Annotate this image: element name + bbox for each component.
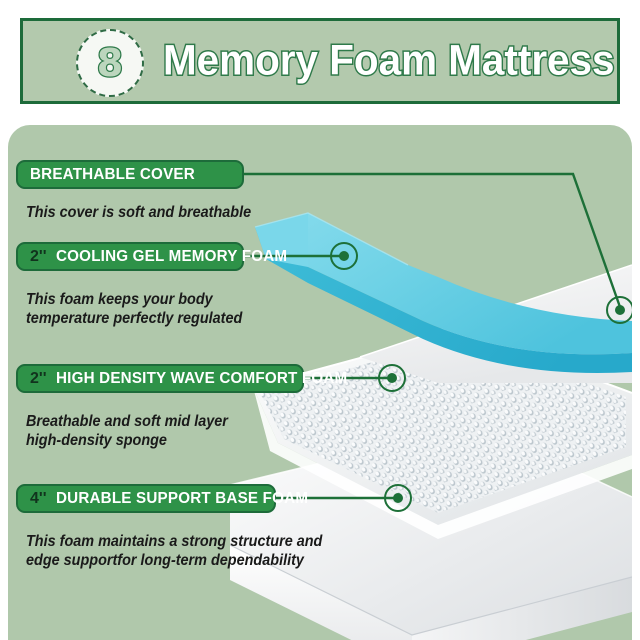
- step-number-badge: 8: [76, 29, 144, 97]
- callout-pill-breathable-cover[interactable]: BREATHABLE COVER: [16, 160, 244, 189]
- step-number-value: 8: [97, 44, 123, 82]
- callout-pill-label-breathable-cover: BREATHABLE COVER: [30, 166, 195, 184]
- callout-pill-measure-wave-comfort-foam: 2'': [30, 370, 47, 388]
- callout-pill-label-base-foam: DURABLE SUPPORT BASE FOAM: [56, 490, 308, 508]
- callout-description-base-foam: This foam maintains a strong structure a…: [26, 532, 322, 570]
- callout-description-cooling-gel: This foam keeps your body temperature pe…: [26, 290, 242, 328]
- content-panel: BREATHABLE COVER This cover is soft and …: [8, 125, 632, 640]
- callout-description-wave-comfort-foam: Breathable and soft mid layer high-densi…: [26, 412, 228, 450]
- callout-pill-cooling-gel[interactable]: 2'' COOLING GEL MEMORY FOAM: [16, 242, 244, 271]
- header-banner: 8 Memory Foam Mattress: [20, 18, 620, 104]
- callout-pill-measure-cooling-gel: 2'': [30, 248, 47, 266]
- callout-description-breathable-cover: This cover is soft and breathable: [26, 203, 251, 222]
- callout-pill-measure-base-foam: 4'': [30, 490, 47, 508]
- callout-pill-label-wave-comfort-foam: HIGH DENSITY WAVE COMFORT FOAM: [56, 370, 347, 388]
- callout-pill-base-foam[interactable]: 4'' DURABLE SUPPORT BASE FOAM: [16, 484, 276, 513]
- page-title: Memory Foam Mattress: [163, 37, 614, 86]
- callout-pill-label-cooling-gel: COOLING GEL MEMORY FOAM: [56, 248, 287, 266]
- callout-pill-wave-comfort-foam[interactable]: 2'' HIGH DENSITY WAVE COMFORT FOAM: [16, 364, 304, 393]
